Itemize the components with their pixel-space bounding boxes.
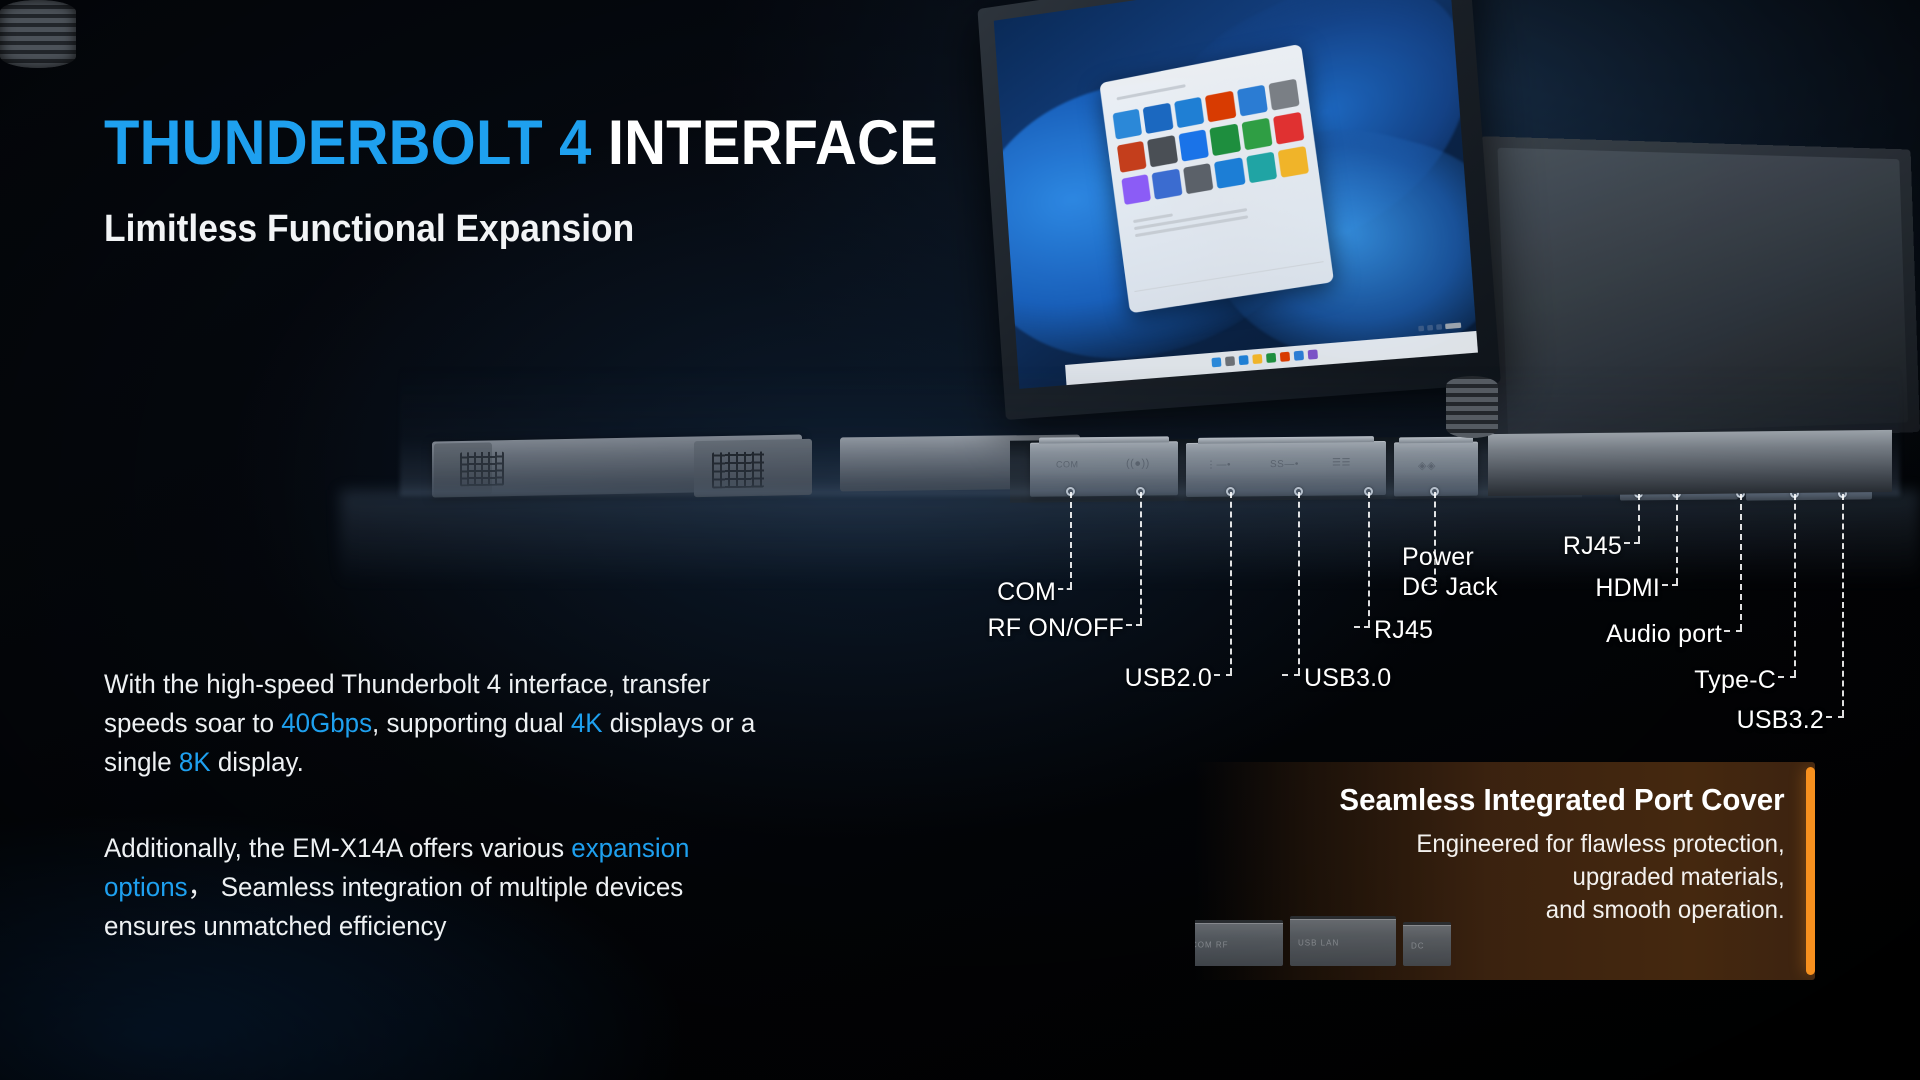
port-cover-piece-label: USB LAN — [1298, 938, 1339, 947]
laptop-screen — [994, 0, 1478, 389]
port-cover-card-description: Engineered for flawless protection, upgr… — [1335, 828, 1785, 927]
app-icon[interactable] — [1210, 124, 1241, 156]
app-icon[interactable] — [1246, 152, 1277, 184]
floor-sheen — [340, 490, 1920, 610]
paragraph-expansion: Additionally, the EM-X14A offers various… — [104, 829, 776, 946]
card-line-1: Engineered for flawless protection, — [1335, 828, 1785, 861]
app-icon[interactable] — [1152, 169, 1182, 200]
start-menu-search-placeholder — [1117, 84, 1186, 100]
app-icon[interactable] — [1241, 118, 1272, 150]
taskbar-app-icon[interactable] — [1266, 353, 1276, 363]
port-cover-piece: DC — [1403, 922, 1451, 966]
port-cover-card: COM RF USB LAN DC Seamless Integrated Po… — [1195, 762, 1815, 980]
app-icon[interactable] — [1205, 91, 1236, 123]
taskbar-app-icon[interactable] — [1308, 350, 1318, 360]
page-title: THUNDERBOLT 4 INTERFACE — [104, 112, 938, 175]
port-cover-card-text: Seamless Integrated Port Cover Engineere… — [1316, 782, 1785, 927]
port-cover-piece-label: COM RF — [1195, 940, 1229, 949]
app-icon[interactable] — [1183, 163, 1214, 195]
card-line-3: and smooth operation. — [1335, 894, 1785, 927]
page-title-rest: INTERFACE — [608, 108, 938, 178]
heading-block: THUNDERBOLT 4 INTERFACE Limitless Functi… — [104, 112, 1010, 251]
app-icon[interactable] — [1143, 103, 1173, 135]
app-icon[interactable] — [1113, 109, 1143, 140]
laptop-hinge-right — [1446, 376, 1498, 438]
para2-seg2: ， — [188, 872, 214, 902]
app-icon[interactable] — [1178, 130, 1209, 162]
taskbar-explorer-icon[interactable] — [1252, 354, 1262, 364]
app-icon[interactable] — [1278, 146, 1310, 178]
body-copy: With the high-speed Thunderbolt 4 interf… — [104, 665, 804, 946]
laptop-hinge-cylinder — [0, 0, 76, 68]
page-subtitle: Limitless Functional Expansion — [104, 208, 947, 251]
port-cover-card-title: Seamless Integrated Port Cover — [1340, 782, 1785, 818]
paragraph-thunderbolt: With the high-speed Thunderbolt 4 interf… — [104, 665, 776, 782]
app-icon[interactable] — [1214, 157, 1245, 189]
front-laptop-right-body — [1488, 430, 1892, 496]
taskbar-widgets-icon[interactable] — [1239, 355, 1249, 365]
taskbar-edge-icon[interactable] — [1294, 351, 1304, 361]
para1-highlight-4k: 4K — [571, 708, 603, 738]
taskbar-app-icon[interactable] — [1280, 352, 1290, 362]
windows-start-menu[interactable] — [1099, 44, 1334, 314]
card-line-2: upgraded materials, — [1335, 861, 1785, 894]
para1-highlight-8k: 8K — [179, 747, 211, 777]
tray-network-icon[interactable] — [1418, 326, 1424, 332]
app-icon[interactable] — [1268, 79, 1300, 111]
tray-battery-icon[interactable] — [1436, 324, 1442, 330]
app-icon[interactable] — [1174, 97, 1205, 129]
para1-seg4: display. — [211, 747, 304, 777]
app-icon[interactable] — [1121, 174, 1151, 205]
port-cover-piece: COM RF — [1195, 920, 1283, 966]
para2-seg1: Additionally, the EM-X14A offers various — [104, 833, 571, 863]
para1-seg2: , supporting dual — [372, 708, 571, 738]
tray-volume-icon[interactable] — [1427, 325, 1433, 331]
app-icon[interactable] — [1236, 85, 1267, 117]
app-icon[interactable] — [1117, 141, 1147, 172]
page-title-highlight: THUNDERBOLT 4 — [104, 108, 592, 178]
para1-highlight-40gbps: 40Gbps — [281, 708, 372, 738]
app-icon[interactable] — [1273, 112, 1305, 144]
app-icon[interactable] — [1147, 136, 1177, 168]
start-menu-pinned-apps[interactable] — [1113, 79, 1310, 205]
accent-bar — [1806, 767, 1815, 975]
laptop-lid — [977, 0, 1501, 420]
port-cover-piece-label: DC — [1411, 941, 1425, 950]
